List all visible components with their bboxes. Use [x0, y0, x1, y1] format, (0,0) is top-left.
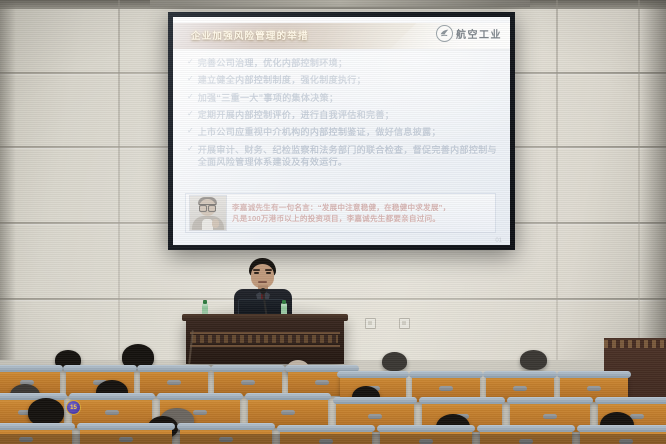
glasses-icon: [199, 204, 216, 210]
list-item: ✓ 建立健全内部控制制度，强化制度执行；: [187, 74, 500, 86]
bullet-text: 定期开展内部控制评价，进行自我评估和完善；: [198, 109, 394, 121]
presenter-eye: [266, 272, 271, 274]
seat-number-badge: 15: [66, 400, 81, 415]
floor-shadow: [0, 434, 666, 444]
bullet-text: 开展审计、财务、纪检监察和法务部门的联合检查，督促完善内部控制与全面风险管理体系…: [198, 144, 500, 168]
slide-title: 企业加强风险管理的举措: [191, 28, 309, 42]
quote-callout: 李嘉诚先生有一句名言：“发展中注意稳健，在稳健中求发展”， 凡是100万港币以上…: [185, 193, 496, 233]
bullet-text: 完善公司治理，优化内部控制环境；: [198, 57, 348, 69]
checkmark-icon: ✓: [187, 57, 194, 68]
list-item: ✓ 定期开展内部控制评价，进行自我评估和完善；: [187, 109, 500, 121]
portrait-photo: [189, 195, 227, 231]
list-item: ✓ 加强“三重一大”事项的集体决策；: [187, 92, 500, 104]
presentation-slide: 企业加强风险管理的举措 航空工业 ✓ 完善公司治理，优化内部控制环境；: [173, 17, 510, 245]
portrait-hand: [212, 219, 219, 228]
audience-head: [520, 350, 547, 370]
lecture-hall-photo: 企业加强风险管理的举措 航空工业 ✓ 完善公司治理，优化内部控制环境；: [0, 0, 666, 444]
podium-top-ledge: [182, 314, 348, 321]
seat-back: [214, 368, 282, 396]
list-item: ✓ 完善公司治理，优化内部控制环境；: [187, 57, 500, 69]
presenter-eyebrow: [265, 269, 272, 271]
presenter-eyebrow: [253, 269, 260, 271]
checkmark-icon: ✓: [187, 74, 194, 85]
bullet-text: 加强“三重一大”事项的集体决策；: [198, 92, 339, 104]
audience-seating: 15: [0, 338, 666, 444]
bottle-cap: [282, 300, 286, 304]
seat-back: [140, 368, 208, 396]
podium-trim: [190, 332, 340, 334]
checkmark-icon: ✓: [187, 144, 194, 155]
slide-bullet-list: ✓ 完善公司治理，优化内部控制环境； ✓ 建立健全内部控制制度，强化制度执行； …: [187, 57, 500, 173]
presenter-eye: [254, 272, 259, 274]
projection-screen: 企业加强风险管理的举措 航空工业 ✓ 完善公司治理，优化内部控制环境；: [173, 17, 510, 245]
seat-number-text: 15: [70, 405, 77, 411]
quote-text-block: 李嘉诚先生有一句名言：“发展中注意稳健，在稳健中求发展”， 凡是100万港币以上…: [232, 202, 450, 224]
bottle-cap: [203, 300, 207, 304]
list-item: ✓ 开展审计、财务、纪检监察和法务部门的联合检查，督促完善内部控制与全面风险管理…: [187, 144, 500, 168]
slide-page-number: 01: [495, 238, 502, 244]
quote-line-1: 李嘉诚先生有一句名言：“发展中注意稳健，在稳健中求发展”，: [232, 202, 450, 213]
quote-line-2: 凡是100万港币以上的投资项目，李嘉诚先生都要亲自过问。: [232, 213, 450, 224]
company-logo: 航空工业: [436, 25, 502, 42]
avic-bird-logo-icon: [436, 25, 453, 42]
bullet-text: 建立健全内部控制制度，强化制度执行；: [198, 74, 366, 86]
audience-head: [382, 352, 407, 371]
side-wall-trim: [604, 340, 666, 348]
projection-screen-frame: 企业加强风险管理的举措 航空工业 ✓ 完善公司治理，优化内部控制环境；: [168, 12, 515, 250]
checkmark-icon: ✓: [187, 92, 194, 103]
checkmark-icon: ✓: [187, 109, 194, 120]
bullet-text: 上市公司应重视中介机构的内部控制鉴证，做好信息披露；: [198, 126, 441, 138]
list-item: ✓ 上市公司应重视中介机构的内部控制鉴证，做好信息披露；: [187, 126, 500, 138]
checkmark-icon: ✓: [187, 126, 194, 137]
company-logo-text: 航空工业: [456, 26, 502, 41]
audience-head: [28, 398, 64, 426]
